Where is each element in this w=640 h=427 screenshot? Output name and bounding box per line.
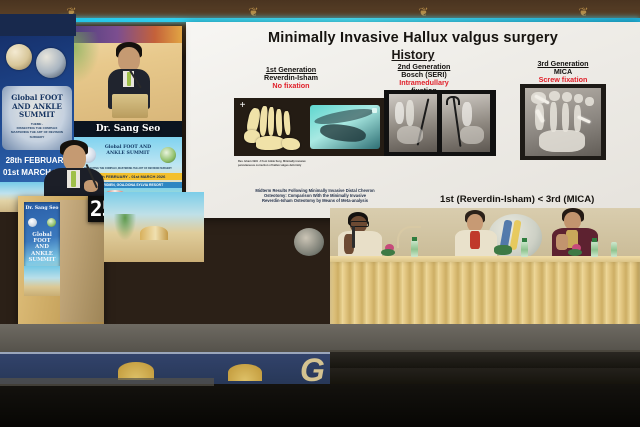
panelist-center — [452, 210, 500, 258]
flower-leaf-2 — [568, 249, 582, 256]
backdrop-seal-2 — [36, 48, 66, 78]
feed-speaker-figure — [106, 42, 152, 120]
water-bottle-2-cap — [522, 238, 527, 242]
apron-logo-medallion-2 — [228, 364, 262, 381]
generation-3-image — [520, 84, 606, 160]
generation-1-image: + — [234, 98, 386, 156]
xray-metatarsal-r — [460, 126, 484, 144]
foreground-shadow — [0, 384, 640, 427]
wall-ornament-2 — [230, 6, 276, 18]
metatarsal-shaft-2 — [550, 102, 557, 132]
stage-step-1 — [330, 352, 640, 368]
feed-speaker-nameplate: Dr. Sang Seo — [74, 121, 182, 137]
podium-sign-beach — [24, 266, 60, 296]
xray-bosch-left — [389, 94, 437, 152]
bone-metatarsal-4 — [276, 109, 283, 136]
conference-stage-photo: Minimally Invasive Hallux valgus surgery… — [0, 0, 640, 427]
generation-block-3: 3rd Generation MICA Screw fixation — [504, 60, 622, 84]
slide-title: Minimally Invasive Hallux valgus surgery — [186, 30, 640, 46]
water-bottle-4 — [611, 242, 617, 257]
bone-heel — [282, 138, 300, 150]
intraoperative-xray-cyan — [310, 105, 380, 149]
plant-center — [494, 245, 512, 255]
live-camera-feed — [74, 26, 182, 121]
water-bottle-3-cap — [592, 238, 597, 242]
slide-conclusion-annotation: 1st (Reverdin-Isham) < 3rd (MICA) — [440, 194, 594, 205]
citation-line-3: Reverdin-Isham Osteotomy by Means of Met… — [230, 198, 400, 203]
feed-podium — [112, 94, 148, 118]
water-bottle-2 — [521, 241, 528, 257]
podium-name-sign: Dr. Sang Seo GlobalFOOT AND ANKLESUMMIT — [24, 202, 60, 296]
flower-leaf-1 — [381, 249, 395, 256]
generation-2-image — [384, 90, 496, 156]
marker-cross-icon: + — [238, 101, 247, 110]
board-palm-tree — [114, 214, 136, 240]
board-lounger — [140, 226, 168, 240]
wall-ornament-3 — [400, 6, 446, 18]
wall-ornament-4 — [560, 6, 606, 18]
foreground-rail-edge — [0, 378, 214, 386]
generation-1-source-note: Rev. Isham 1991 J Foot Ankle Surg Minima… — [238, 160, 348, 168]
midfoot-mass — [539, 130, 585, 152]
xray-phalanx-l2 — [406, 100, 414, 126]
backdrop-top-edge — [0, 14, 76, 36]
slide-surface: Minimally Invasive Hallux valgus surgery… — [186, 22, 640, 218]
podium-sign-seal-2 — [47, 218, 56, 227]
palm-frond-decor — [74, 32, 100, 84]
metatarsal-shaft-3 — [562, 103, 569, 132]
bone-metatarsal-2 — [259, 106, 268, 136]
xray-corner-marker — [372, 108, 377, 113]
xray-mica-foot — [525, 88, 601, 156]
panelist-left-microphone — [352, 226, 355, 248]
slide-citation: Midterm Results Following Minimally Inva… — [230, 188, 400, 203]
presenter-tie — [71, 171, 76, 187]
podium-sign-logo: GlobalFOOT AND ANKLESUMMIT — [26, 232, 58, 263]
toe-5 — [585, 97, 594, 106]
xray-metatarsal-l — [397, 126, 423, 144]
water-bottle-1-cap — [412, 237, 417, 241]
toe-2 — [549, 91, 560, 101]
water-bottle-1 — [411, 240, 418, 257]
xray-bone-shadow-1 — [314, 106, 375, 127]
stage-step-1-edge — [330, 350, 640, 352]
bone-metatarsal-3 — [268, 107, 275, 136]
stage-floor — [0, 324, 640, 352]
generation-3-note: Screw fixation — [504, 76, 622, 84]
toe-3 — [562, 92, 572, 102]
podium-sign-seal-1 — [28, 218, 37, 227]
xray-phalanx-l1 — [395, 102, 404, 124]
generation-1-note: No fixation — [226, 82, 356, 90]
k-wire-bend — [446, 96, 460, 105]
panel-wall-decor-globe — [294, 228, 324, 256]
projection-screen: Minimally Invasive Hallux valgus surgery… — [186, 22, 640, 218]
generation-block-1: 1st Generation Reverdin-Isham No fixatio… — [226, 66, 356, 90]
backdrop-theme: THEME - DISSECTING THE COMPLEX MASTERING… — [6, 122, 68, 139]
xray-bone-shadow-2 — [319, 122, 367, 144]
feed-banner-seal-right — [160, 147, 176, 163]
xray-bosch-right — [442, 94, 490, 152]
backdrop-seal-1 — [6, 44, 32, 70]
bone-metatarsal-5 — [283, 111, 291, 135]
water-bottle-3 — [591, 241, 598, 257]
backdrop-logo-text: Global FOOT AND ANKLE SUMMIT — [2, 94, 72, 120]
beach-print-board — [104, 192, 204, 262]
xray-phalanx-r1 — [462, 102, 472, 126]
panelist-center-scarf — [470, 231, 480, 249]
panelist-left — [336, 212, 384, 258]
panelist-right-arm — [556, 234, 568, 250]
toe-4 — [574, 94, 583, 103]
podium-speaker-name: Dr. Sang Seo — [24, 206, 60, 211]
backdrop-theme-3: MASTERING THE ART OF REVISION SURGERY — [11, 130, 63, 138]
